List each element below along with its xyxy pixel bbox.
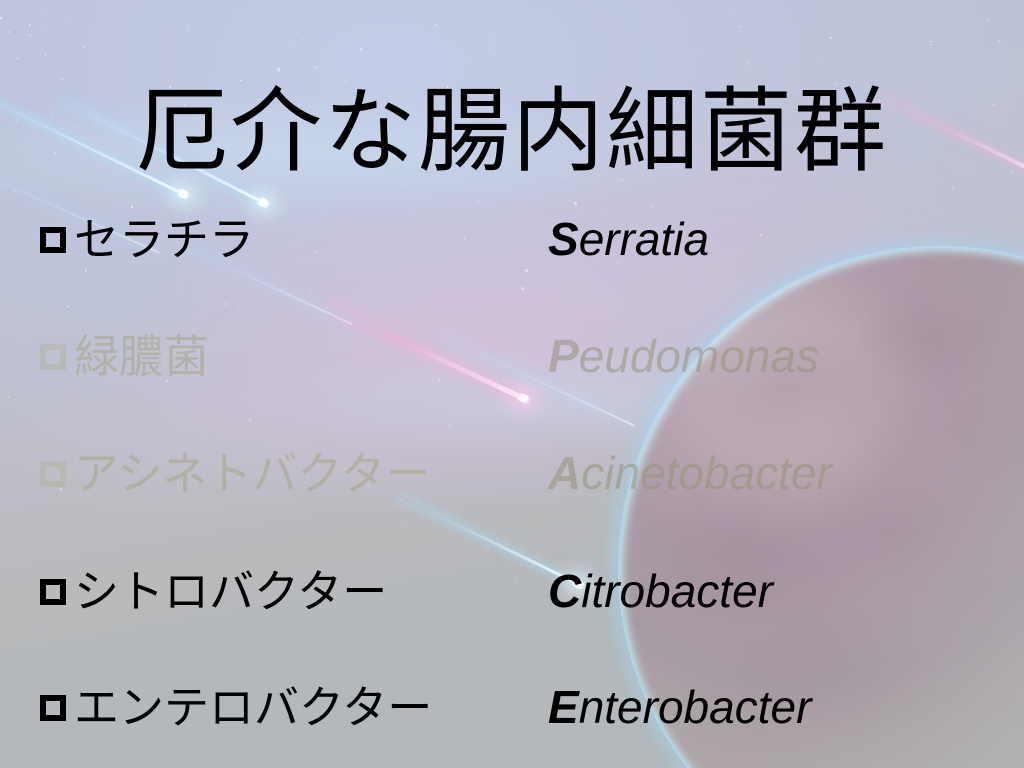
latin-rest: itrobacter [581, 565, 773, 617]
square-outline-bullet-icon [40, 344, 66, 370]
bullet-latin-name: Serratia [548, 216, 984, 262]
list-item[interactable]: アシネトバクター Acinetobacter [40, 442, 984, 504]
list-item[interactable]: セラチラ Serratia [40, 208, 984, 270]
bullet-latin-name: Enterobacter [548, 684, 984, 730]
bullet-japanese-label: シトロバクター [74, 569, 387, 614]
bullet-japanese-label: エンテロバクター [74, 685, 432, 730]
presentation-slide: 厄介な腸内細菌群 セラチラ Serratia 緑膿菌 Peudomonas アシ… [0, 0, 1024, 768]
latin-rest: cinetobacter [581, 447, 832, 499]
bullet-japanese-cell: アシネトバクター [40, 451, 548, 496]
square-outline-bullet-icon [40, 461, 66, 487]
latin-rest: eudomonas [579, 330, 819, 382]
square-outline-bullet-icon [40, 579, 66, 605]
latin-initial: E [548, 681, 579, 733]
latin-rest: erratia [579, 213, 709, 265]
bullet-japanese-label: 緑膿菌 [74, 334, 209, 379]
bullet-japanese-cell: 緑膿菌 [40, 334, 548, 379]
bullet-latin-name: Peudomonas [548, 333, 984, 379]
slide-content: 厄介な腸内細菌群 セラチラ Serratia 緑膿菌 Peudomonas アシ… [0, 0, 1024, 768]
latin-rest: nterobacter [579, 681, 812, 733]
list-item[interactable]: エンテロバクター Enterobacter [40, 676, 984, 738]
page-title: 厄介な腸内細菌群 [0, 84, 1024, 181]
latin-initial: P [548, 330, 579, 382]
square-outline-bullet-icon [40, 227, 66, 253]
list-item[interactable]: シトロバクター Citrobacter [40, 560, 984, 622]
list-item[interactable]: 緑膿菌 Peudomonas [40, 325, 984, 387]
latin-initial: A [548, 447, 581, 499]
latin-initial: C [548, 565, 581, 617]
latin-initial: S [548, 213, 579, 265]
square-outline-bullet-icon [40, 695, 66, 721]
bullet-japanese-cell: エンテロバクター [40, 685, 548, 730]
bullet-japanese-cell: セラチラ [40, 217, 548, 262]
bullet-latin-name: Citrobacter [548, 568, 984, 614]
bullet-japanese-cell: シトロバクター [40, 569, 548, 614]
bullet-japanese-label: アシネトバクター [74, 451, 430, 496]
bullet-japanese-label: セラチラ [74, 217, 254, 262]
bullet-latin-name: Acinetobacter [548, 450, 984, 496]
